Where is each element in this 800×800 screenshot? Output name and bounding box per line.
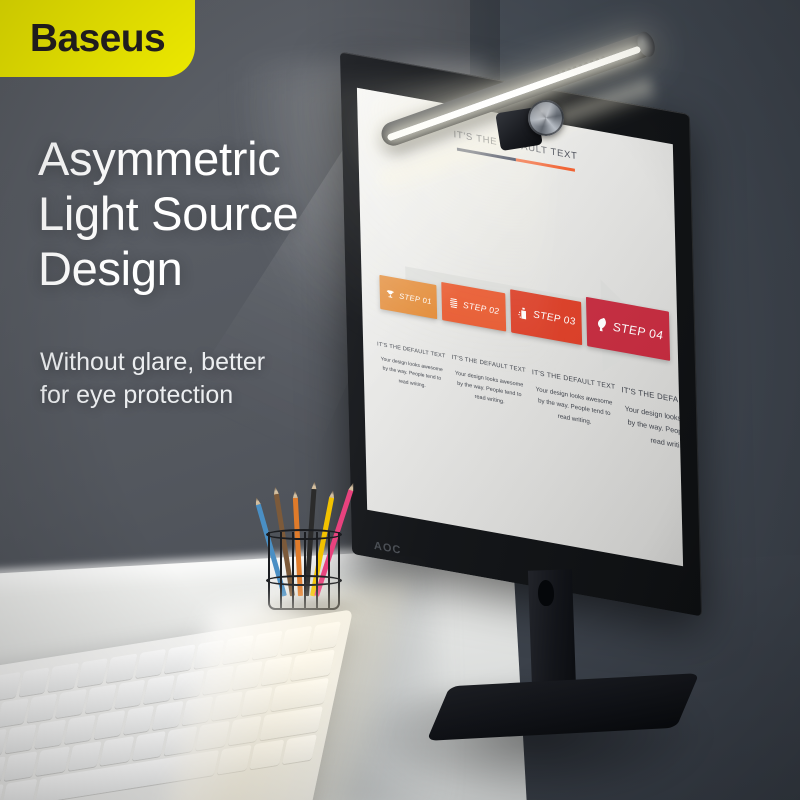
keyboard-key: [164, 644, 195, 673]
keyboard-key: [85, 684, 117, 713]
keyboard-key: [99, 736, 133, 766]
headline-line-3: Design: [38, 242, 398, 297]
keyboard-key: [0, 698, 29, 727]
pencil-tip: [292, 490, 297, 498]
slide-column: IT'S THE DEFAULT TEXT Your design looks …: [621, 385, 683, 458]
keyboard-key: [67, 741, 101, 771]
brand-logo-text: Baseus: [30, 17, 165, 61]
keyboard-key: [56, 689, 88, 718]
pencil-tip: [311, 481, 317, 489]
keyboard-key: [77, 658, 108, 687]
headline-line-2: Light Source: [38, 187, 398, 242]
screen-bar-light: [368, 22, 668, 162]
lamp-end-cap: [634, 29, 658, 59]
pencil-tip: [329, 490, 335, 499]
keyboard-key: [34, 720, 66, 749]
subheadline-line-2: for eye protection: [40, 379, 380, 412]
headline-line-1: Asymmetric: [38, 132, 398, 187]
keyboard-key: [143, 675, 175, 704]
pencil-cup: [252, 470, 356, 610]
stand-cable-cutout: [538, 580, 555, 607]
keyboard-key: [2, 779, 37, 800]
keyboard-key: [48, 663, 79, 692]
pencil-tip: [254, 496, 261, 505]
keyboard-key: [19, 667, 50, 696]
keyboard-key: [114, 680, 146, 709]
product-marketing-scene: IT'S THE DEFAULT TEXT STEP 01: [0, 0, 800, 800]
pencil-cup-rim: [266, 529, 342, 540]
keyboard-key: [4, 724, 36, 753]
keyboard-key: [93, 710, 125, 739]
page-subtitle: Without glare, better for eye protection: [40, 346, 380, 413]
bird-icon: [593, 314, 610, 334]
keyboard-key: [26, 693, 58, 722]
pencil-cup-lower-hoop: [266, 575, 342, 586]
step-chip-04-label: STEP 04: [613, 319, 664, 342]
pencil-tip: [348, 482, 355, 491]
page-title: Asymmetric Light Source Design: [38, 132, 398, 297]
keyboard-key: [0, 672, 21, 701]
subheadline-line-1: Without glare, better: [40, 346, 380, 379]
keyboard-key: [64, 715, 96, 744]
brand-logo: Baseus: [0, 0, 195, 77]
keyboard-key: [35, 746, 69, 776]
column-body: Your design looks awesome by the way. Pe…: [532, 383, 616, 433]
keyboard-key: [123, 705, 155, 734]
keyboard-key: [131, 731, 165, 761]
keyboard-key: [3, 751, 37, 781]
keyboard-key: [135, 649, 166, 678]
keyboard-key: [152, 701, 184, 730]
pencil-tip: [273, 486, 279, 495]
keyboard-key: [106, 654, 137, 683]
lamp-counterweight-knob: [528, 100, 564, 136]
column-body: Your design looks awesome by the way. Pe…: [622, 401, 683, 458]
